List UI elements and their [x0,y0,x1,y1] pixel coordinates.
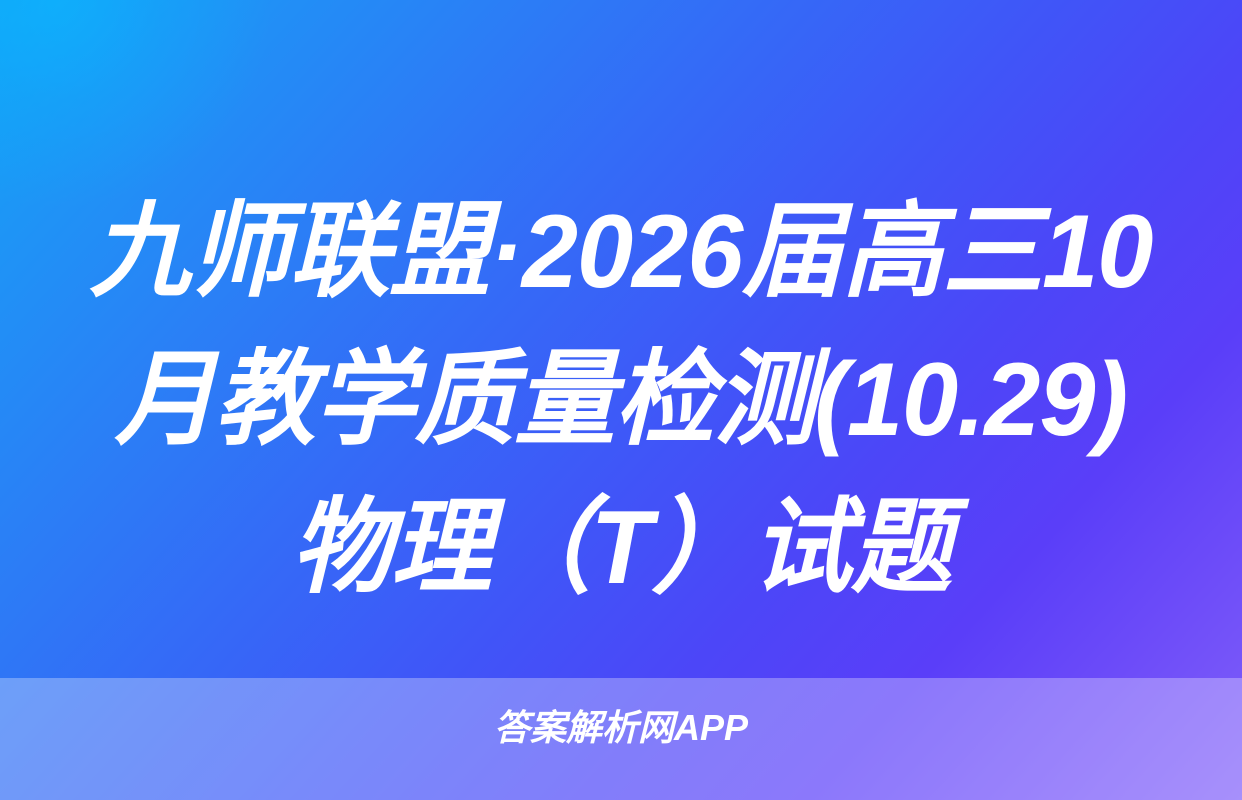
title-line-1: 九师联盟·2026届高三10 [77,178,1165,326]
title-line-2: 月教学质量检测(10.29) [77,326,1165,474]
app-watermark: 答案解析网APP [0,706,1242,750]
title-line-3: 物理（T）试题 [77,474,1165,622]
exam-cover-poster: 九师联盟·2026届高三10 月教学质量检测(10.29) 物理（T）试题 答案… [0,0,1242,800]
page-title: 九师联盟·2026届高三10 月教学质量检测(10.29) 物理（T）试题 [60,178,1182,622]
